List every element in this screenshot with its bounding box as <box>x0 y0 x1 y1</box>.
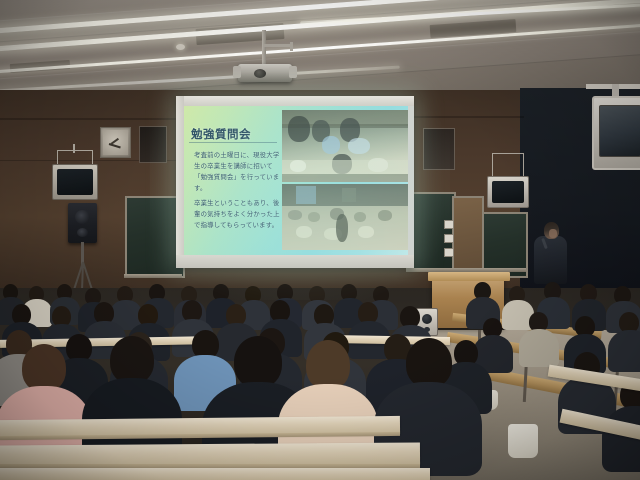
lecture-hall-photo: 勉強質問会 考査前の土曜日に、現役大学生の卒業生を講師に招いて「勉強質問会」を行… <box>0 0 640 480</box>
projection-screen: 勉強質問会 考査前の土曜日に、現役大学生の卒業生を講師に招いて「勉強質問会」を行… <box>176 96 414 268</box>
projector-mount-arm <box>264 44 292 47</box>
ceiling-projector <box>238 64 292 82</box>
speaker-cone <box>422 314 432 324</box>
tv-screen <box>599 105 640 157</box>
screen-frame-left <box>176 96 184 268</box>
slide-photo-classroom <box>282 184 408 250</box>
screen-frame-bottom <box>176 255 414 268</box>
slide-title: 勉強質問会 <box>191 126 251 142</box>
blackboard-right <box>408 192 456 272</box>
slide-paragraph-2: 卒業生ということもあり、後輩の気持ちをよく分かった上で指導してもらっています。 <box>194 198 282 231</box>
wall-switch[interactable] <box>444 248 454 257</box>
speaker-cone <box>75 210 90 224</box>
foreground-bench <box>0 468 430 480</box>
slide-title-underline <box>189 142 277 143</box>
monitor-mount-bracket <box>492 153 524 178</box>
wall-switch[interactable] <box>444 234 454 243</box>
chalk-tray <box>124 274 182 278</box>
wall-panel <box>139 126 167 163</box>
presenter-face <box>549 229 557 238</box>
bag <box>508 424 538 458</box>
presentation-slide: 勉強質問会 考査前の土曜日に、現役大学生の卒業生を講師に招いて「勉強質問会」を行… <box>184 106 408 255</box>
projector-mount-pole <box>262 30 266 68</box>
wall-clock <box>100 127 131 158</box>
monitor-screen <box>492 181 524 203</box>
slide-paragraph-1: 考査前の土曜日に、現役大学生の卒業生を講師に招いて「勉強質問会」を行っています。 <box>194 150 280 194</box>
crt-monitor-center <box>487 176 529 208</box>
ceiling <box>0 0 640 96</box>
lectern-top <box>428 272 510 281</box>
speaker-cone <box>77 228 88 237</box>
corkboard <box>452 196 484 278</box>
tv-monitor-right <box>592 96 640 170</box>
monitor-mount-bracket <box>57 150 93 165</box>
clock-minute-hand <box>111 138 119 145</box>
presenter-body <box>534 236 567 284</box>
projector-lens <box>254 69 266 78</box>
projector-mount-arm-end <box>290 42 293 51</box>
screen-frame-top <box>176 96 414 106</box>
wall-panel-right <box>423 128 455 170</box>
clock-face <box>103 130 128 155</box>
crt-monitor-left <box>52 164 98 200</box>
pa-speaker-tripod <box>68 203 97 243</box>
wall-switch[interactable] <box>444 220 454 229</box>
slide-photo-students <box>282 110 408 182</box>
monitor-screen <box>57 169 93 195</box>
